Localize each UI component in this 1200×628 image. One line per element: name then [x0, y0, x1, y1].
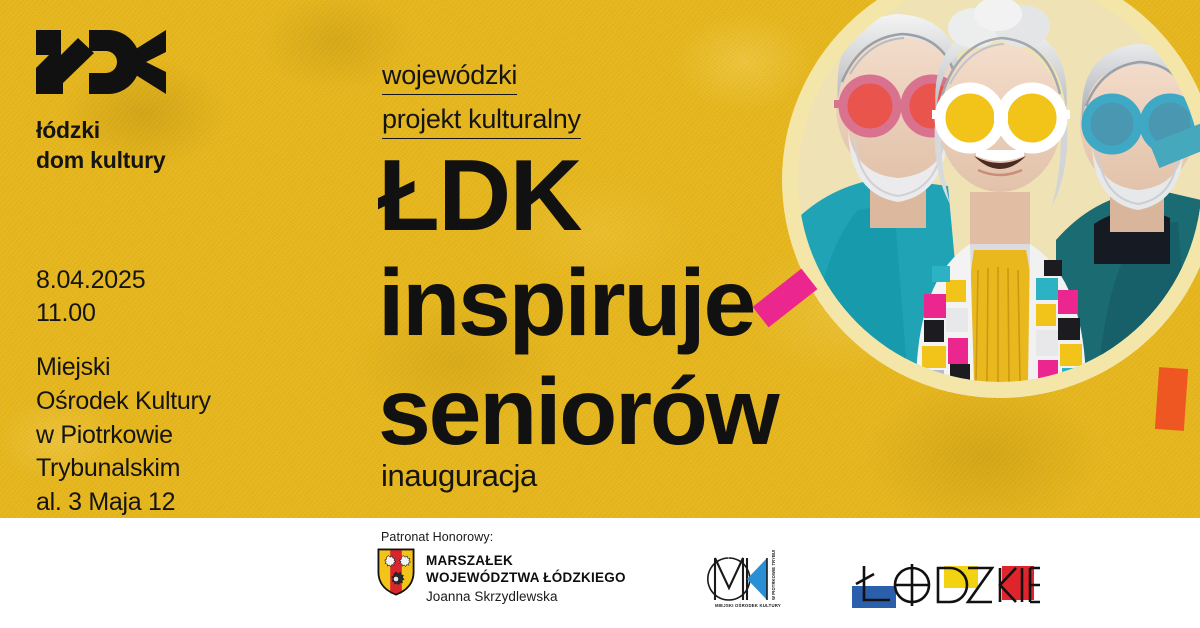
lodzkie-regional-logo-icon: ŁÓDZKIE — [850, 556, 1040, 614]
mok-caption-vertical: W PIOTRKOWIE TRYBUNALSKIM — [771, 550, 776, 600]
photo-disc — [798, 0, 1200, 382]
event-time: 11.00 — [36, 297, 145, 330]
event-subtitle: inauguracja — [381, 460, 537, 491]
patron-label: Patronat Honorowy: — [381, 530, 493, 544]
orange-accent-bar — [1155, 367, 1188, 431]
title-line-inspiruje: inspiruje — [378, 256, 754, 351]
event-datetime: 8.04.2025 11.00 — [36, 264, 145, 331]
kicker-line-1: wojewódzki — [382, 60, 517, 95]
marshal-patronage-logo: MARSZAŁEK WOJEWÓDZTWA ŁÓDZKIEGO Joanna S… — [377, 548, 626, 605]
marshal-line-1: MARSZAŁEK — [426, 552, 626, 569]
ldk-monogram-icon — [36, 30, 166, 94]
marshal-line-3: Joanna Skrzydlewska — [426, 588, 626, 606]
ldk-logo-wordmark: łódzki dom kultury — [36, 116, 166, 176]
marshal-text-block: MARSZAŁEK WOJEWÓDZTWA ŁÓDZKIEGO Joanna S… — [426, 548, 626, 605]
kicker-line-2: projekt kulturalny — [382, 104, 581, 139]
venue-line-5: al. 3 Maja 12 — [36, 486, 211, 520]
ldk-logo-line1: łódzki — [36, 116, 166, 146]
marshal-line-2: WOJEWÓDZTWA ŁÓDZKIEGO — [426, 569, 626, 586]
title-line-seniorow: seniorów — [378, 365, 777, 460]
venue-line-3: w Piotrkowie — [36, 419, 211, 453]
title-ldk: ŁDK — [378, 146, 581, 247]
ldk-brand-logo: łódzki dom kultury — [36, 30, 166, 176]
event-date: 8.04.2025 — [36, 264, 145, 297]
three-seniors-photo — [782, 0, 1200, 398]
seniors-illustration-icon — [798, 0, 1200, 382]
ldk-logo-line2: dom kultury — [36, 146, 166, 176]
mok-caption: MIEJSKI OŚRODEK KULTURY — [715, 603, 781, 608]
venue-line-4: Trybunalskim — [36, 452, 211, 486]
poster-canvas: łódzki dom kultury 8.04.2025 11.00 Miejs… — [0, 0, 1200, 628]
project-kicker: wojewódzki projekt kulturalny — [382, 56, 581, 139]
venue-line-1: Miejski — [36, 351, 211, 385]
event-venue: Miejski Ośrodek Kultury w Piotrkowie Try… — [36, 351, 211, 520]
footer-bar: Patronat Honorowy: MARSZAŁEK WOJEW — [0, 518, 1200, 628]
venue-line-2: Ośrodek Kultury — [36, 385, 211, 419]
lodzkie-voivodeship-crest-icon — [377, 548, 415, 596]
mok-logo-icon: MIEJSKI OŚRODEK KULTURY W PIOTRKOWIE TRY… — [703, 550, 785, 612]
